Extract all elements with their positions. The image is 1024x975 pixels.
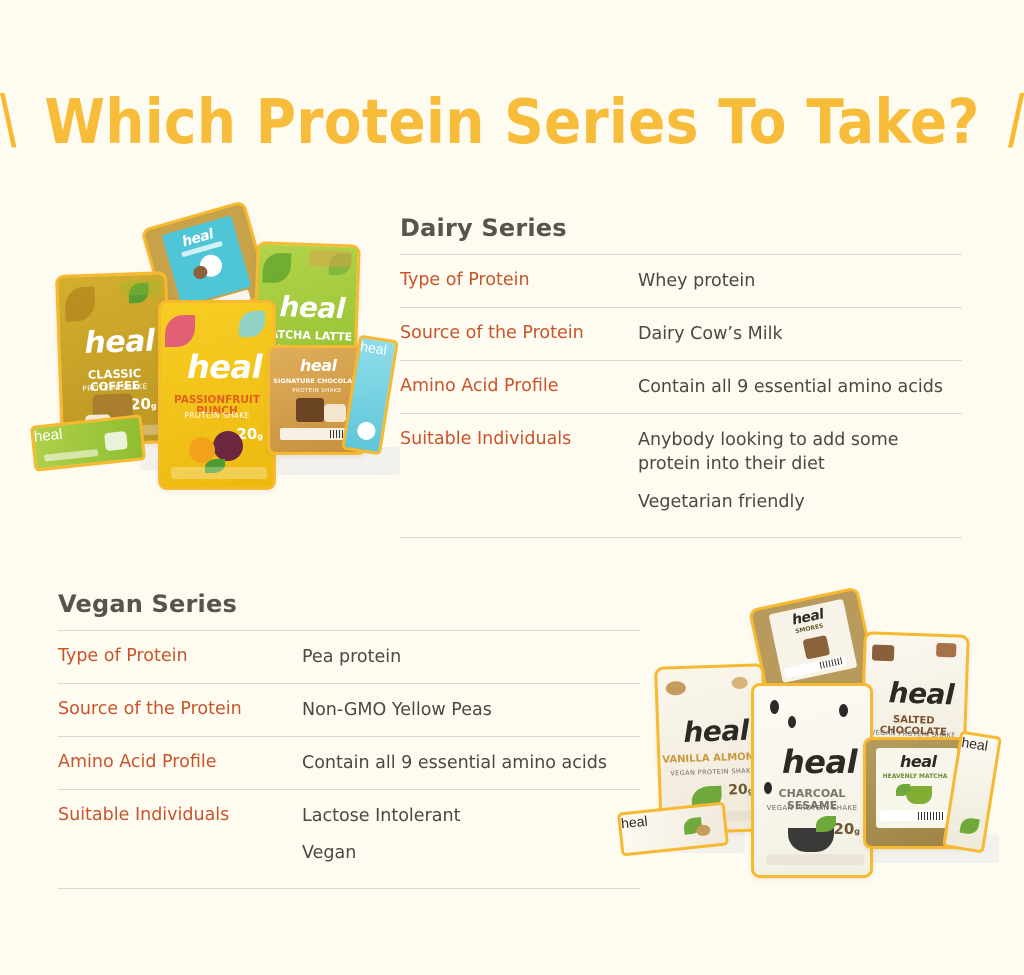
chocolate-chunk-art (936, 643, 956, 658)
row-label: Source of the Protein (58, 698, 302, 721)
row-value: Non-GMO Yellow Peas (302, 698, 640, 723)
product-subtitle: VEGAN PROTEIN SHAKE (661, 766, 765, 778)
vegan-series-heading: Vegan Series (58, 590, 640, 630)
almond-art (666, 681, 686, 696)
table-row: Source of the Protein Dairy Cow’s Milk (400, 308, 962, 360)
brand-logo: heal (888, 679, 954, 709)
page-title-row: \ Which Protein Series To Take? / (0, 74, 1024, 170)
protein-badge: 20g (833, 822, 860, 837)
chocolate-cup-art (324, 404, 346, 422)
passionfruit-art (213, 431, 243, 461)
matcha-cup-art (104, 431, 128, 451)
leaf-art (262, 252, 291, 283)
product-charcoal-sesame-pouch: heal CHARCOAL SESAME VEGAN PROTEIN SHAKE… (751, 683, 873, 878)
protein-badge: 20g (728, 783, 754, 798)
sesame-seed-art (788, 716, 796, 728)
row-value: Pea protein (302, 645, 640, 670)
brand-logo: heal (359, 338, 395, 359)
brand-logo: heal (782, 746, 857, 778)
table-row: Source of the Protein Non-GMO Yellow Pea… (58, 684, 640, 736)
product-flavour-name: HEAVENLY MATCHA (866, 774, 964, 780)
table-row: Type of Protein Whey protein (400, 255, 962, 307)
vegan-series-table: Vegan Series Type of Protein Pea protein… (58, 590, 640, 889)
row-label: Source of the Protein (400, 322, 638, 345)
row-value: Lactose Intolerant Vegan (302, 804, 640, 867)
leaf-art (960, 817, 980, 836)
product-flavour-name: SIGNATURE CHOCOLATE (270, 378, 364, 385)
brand-logo: heal (300, 358, 337, 374)
row-label: Type of Protein (400, 269, 638, 292)
product-passionfruit-punch-pouch: heal PASSIONFRUIT PUNCH PROTEIN SHAKE 20… (158, 300, 276, 490)
brand-logo: heal (279, 293, 345, 323)
dairy-series-heading: Dairy Series (400, 214, 962, 254)
row-label: Suitable Individuals (400, 428, 638, 451)
sesame-seed-art (839, 704, 848, 717)
dairy-series-table: Dairy Series Type of Protein Whey protei… (400, 214, 962, 538)
product-subtitle: VEGAN PROTEIN SHAKE (754, 804, 870, 812)
product-subtitle: PROTEIN SHAKE (161, 411, 273, 420)
brand-logo: heal (683, 717, 749, 747)
leaf-art (64, 287, 95, 322)
row-label: Amino Acid Profile (400, 375, 638, 398)
table-row: Suitable Individuals Anybody looking to … (400, 414, 962, 538)
right-slash-decoration: / (1008, 85, 1024, 159)
protein-badge: 20g (130, 397, 157, 413)
row-value: Dairy Cow’s Milk (638, 322, 962, 347)
table-row: Amino Acid Profile Contain all 9 essenti… (400, 361, 962, 413)
row-label: Amino Acid Profile (58, 751, 302, 774)
row-label: Suitable Individuals (58, 804, 302, 827)
divider (58, 888, 640, 889)
page-title: Which Protein Series To Take? (44, 91, 979, 153)
divider (400, 537, 962, 538)
brand-logo: heal (900, 754, 937, 770)
vegan-product-photo: heal SMORES heal SALTED CHOCOLATE VEGAN … (615, 595, 1015, 900)
brand-logo: heal (960, 734, 998, 755)
dairy-product-photo: heal heal MATCHA LATTE PROTEIN SHAKE 20g… (30, 205, 400, 510)
leaf-art (239, 311, 265, 337)
row-value: Contain all 9 essential amino acids (638, 375, 962, 400)
coconut-art (356, 421, 377, 442)
product-matcha-sachet: heal (30, 414, 146, 471)
left-slash-decoration: \ (0, 85, 16, 159)
chocolate-art (296, 398, 324, 422)
product-flavour-name: VANILLA ALMOND (660, 752, 764, 766)
row-value: Contain all 9 essential amino acids (302, 751, 640, 776)
chocolate-chunk-art (872, 645, 895, 662)
brand-logo: heal (187, 351, 262, 383)
brand-logo: heal (84, 327, 155, 359)
almond-art (732, 677, 748, 690)
table-row: Amino Acid Profile Contain all 9 essenti… (58, 737, 640, 789)
row-value: Anybody looking to add some protein into… (638, 428, 962, 516)
sesame-seed-art (770, 700, 779, 714)
row-label: Type of Protein (58, 645, 302, 668)
infographic-page: \ Which Protein Series To Take? / heal h… (0, 0, 1024, 975)
table-row: Suitable Individuals Lactose Intolerant … (58, 790, 640, 889)
row-value: Whey protein (638, 269, 962, 294)
almond-art (696, 824, 711, 836)
table-row: Type of Protein Pea protein (58, 631, 640, 683)
leaf-art (165, 315, 195, 347)
